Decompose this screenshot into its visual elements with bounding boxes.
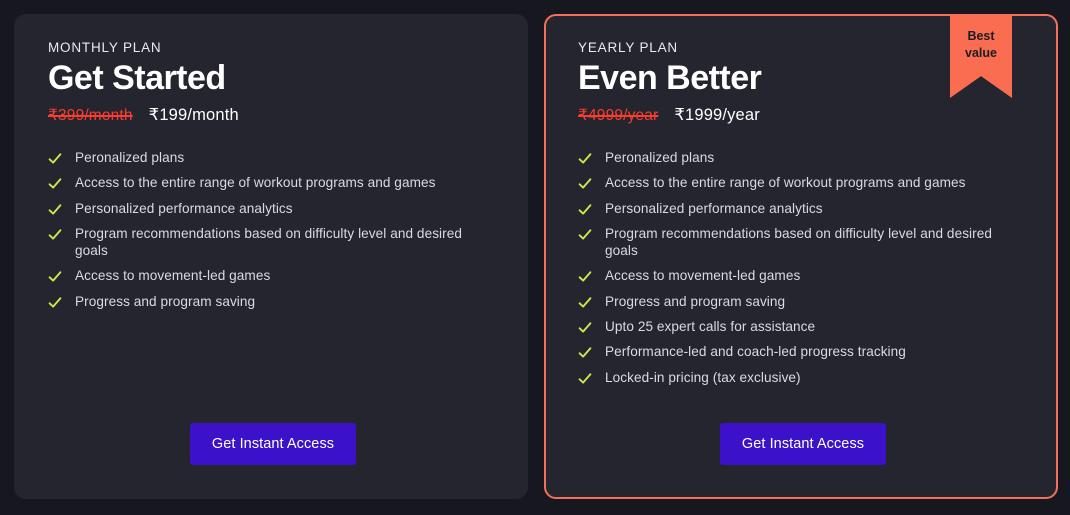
feature-label: Program recommendations based on difficu…	[605, 226, 1028, 260]
plan-title-monthly: Get Started	[48, 60, 498, 97]
list-item: Access to the entire range of workout pr…	[578, 171, 1028, 196]
feature-list-monthly: Peronalized plans Access to the entire r…	[48, 146, 498, 315]
price-row-monthly: ₹399/month ₹199/month	[48, 105, 498, 125]
feature-label: Access to the entire range of workout pr…	[605, 175, 965, 192]
check-icon	[578, 372, 592, 386]
feature-label: Performance-led and coach-led progress t…	[605, 344, 906, 361]
plan-title-yearly: Even Better	[578, 60, 1028, 97]
plan-eyebrow-yearly: YEARLY PLAN	[578, 40, 1028, 55]
feature-label: Progress and program saving	[605, 294, 785, 311]
list-item: Performance-led and coach-led progress t…	[578, 340, 1028, 365]
feature-label: Access to the entire range of workout pr…	[75, 175, 435, 192]
price-original-monthly: ₹399/month	[48, 106, 133, 125]
feature-label: Progress and program saving	[75, 294, 255, 311]
check-icon	[578, 228, 592, 242]
feature-label: Peronalized plans	[75, 150, 184, 167]
check-icon	[48, 296, 62, 310]
check-icon	[578, 270, 592, 284]
list-item: Program recommendations based on difficu…	[48, 222, 498, 264]
list-item: Progress and program saving	[48, 290, 498, 315]
card-spacer	[48, 315, 498, 423]
list-item: Upto 25 expert calls for assistance	[578, 315, 1028, 340]
check-icon	[578, 152, 592, 166]
feature-label: Access to movement-led games	[75, 268, 270, 285]
get-instant-access-button-yearly[interactable]: Get Instant Access	[720, 423, 886, 466]
list-item: Locked-in pricing (tax exclusive)	[578, 366, 1028, 391]
cta-wrapper-monthly: Get Instant Access	[48, 423, 498, 478]
feature-label: Access to movement-led games	[605, 268, 800, 285]
feature-label: Locked-in pricing (tax exclusive)	[605, 370, 801, 387]
plan-card-monthly: MONTHLY PLAN Get Started ₹399/month ₹199…	[14, 14, 528, 499]
feature-label: Peronalized plans	[605, 150, 714, 167]
price-current-monthly: ₹199/month	[149, 105, 239, 125]
check-icon	[48, 152, 62, 166]
check-icon	[578, 203, 592, 217]
list-item: Personalized performance analytics	[578, 196, 1028, 221]
list-item: Access to movement-led games	[578, 264, 1028, 289]
list-item: Access to movement-led games	[48, 264, 498, 289]
check-icon	[578, 177, 592, 191]
cta-wrapper-yearly: Get Instant Access	[578, 423, 1028, 478]
check-icon	[578, 346, 592, 360]
check-icon	[48, 228, 62, 242]
pricing-plans-container: MONTHLY PLAN Get Started ₹399/month ₹199…	[0, 0, 1070, 515]
get-instant-access-button-monthly[interactable]: Get Instant Access	[190, 423, 356, 466]
feature-label: Personalized performance analytics	[75, 201, 293, 218]
list-item: Peronalized plans	[578, 146, 1028, 171]
feature-list-yearly: Peronalized plans Access to the entire r…	[578, 146, 1028, 391]
list-item: Peronalized plans	[48, 146, 498, 171]
price-row-yearly: ₹4999/year ₹1999/year	[578, 105, 1028, 125]
feature-label: Personalized performance analytics	[605, 201, 823, 218]
check-icon	[48, 203, 62, 217]
card-spacer	[578, 391, 1028, 423]
plan-card-yearly: Best value YEARLY PLAN Even Better ₹4999…	[544, 14, 1058, 499]
check-icon	[48, 270, 62, 284]
feature-label: Program recommendations based on difficu…	[75, 226, 498, 260]
price-current-yearly: ₹1999/year	[674, 105, 760, 125]
price-original-yearly: ₹4999/year	[578, 106, 658, 125]
list-item: Access to the entire range of workout pr…	[48, 171, 498, 196]
check-icon	[48, 177, 62, 191]
plan-eyebrow-monthly: MONTHLY PLAN	[48, 40, 498, 55]
check-icon	[578, 321, 592, 335]
list-item: Program recommendations based on difficu…	[578, 222, 1028, 264]
feature-label: Upto 25 expert calls for assistance	[605, 319, 815, 336]
check-icon	[578, 296, 592, 310]
list-item: Progress and program saving	[578, 290, 1028, 315]
list-item: Personalized performance analytics	[48, 196, 498, 221]
